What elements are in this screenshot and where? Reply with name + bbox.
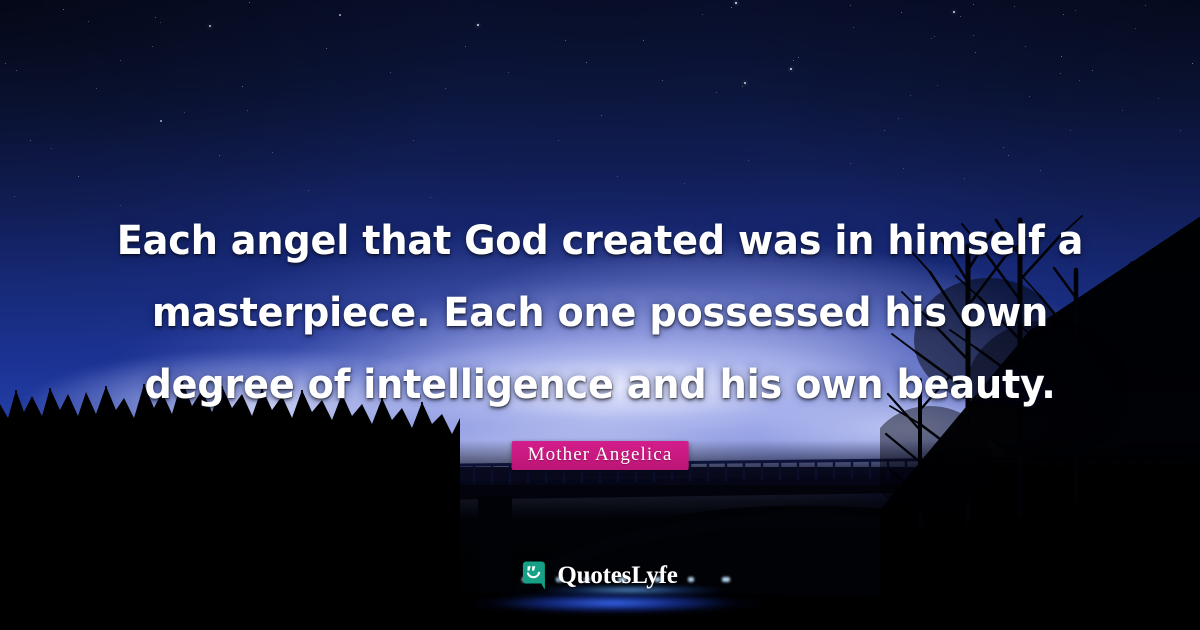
quoteslyfe-logo[interactable]: QuotesLyfe [522, 561, 677, 590]
quote-image-canvas: Each angel that God created was in himse… [0, 0, 1200, 630]
author-name: Mother Angelica [528, 445, 673, 465]
logo-text: QuotesLyfe [557, 562, 677, 589]
quote-bubble-icon [522, 561, 549, 590]
author-badge[interactable]: Mother Angelica [512, 441, 689, 470]
